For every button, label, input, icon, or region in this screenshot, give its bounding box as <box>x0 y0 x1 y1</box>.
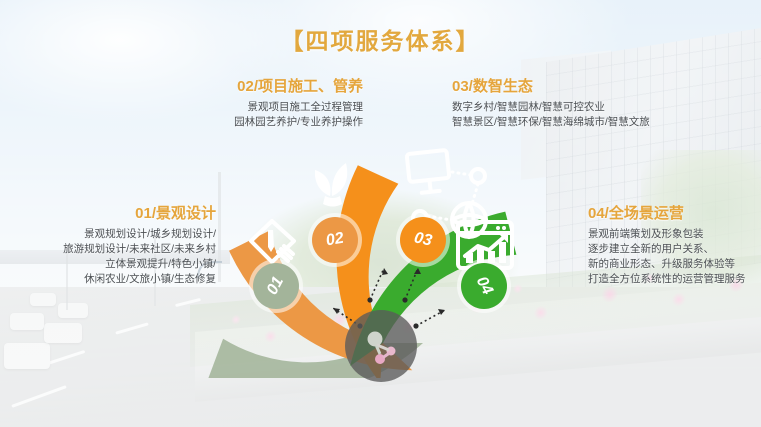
section-heading-04: 04/全场景运营 <box>588 203 761 224</box>
section-heading-01: 01/景观设计 <box>6 203 216 224</box>
sprout-leaf-icon <box>315 163 347 207</box>
segment-badge-04[interactable]: 04 <box>461 263 507 309</box>
section-line: 景观项目施工全过程管理 <box>128 100 363 115</box>
share-network-nodes-icon <box>361 326 401 366</box>
slide-canvas: 【四项服务体系】 .ic{fill:none;stroke:#ffffff;st… <box>0 0 761 427</box>
center-hub[interactable] <box>345 310 417 382</box>
segment-badge-02[interactable]: 02 <box>312 217 358 263</box>
section-line: 旅游规划设计/未来社区/未来乡村 <box>6 242 216 257</box>
section-heading-02: 02/项目施工、管养 <box>128 76 363 97</box>
section-line: 数字乡村/智慧园林/智慧可控农业 <box>452 100 702 115</box>
section-line: 景观前端策划及形象包装 <box>588 227 761 242</box>
section-text-02: 02/项目施工、管养 景观项目施工全过程管理 园林园艺养护/专业养护操作 <box>128 76 363 130</box>
section-line: 逐步建立全新的用户关系、 <box>588 242 761 257</box>
section-text-01: 01/景观设计 景观规划设计/城乡规划设计/ 旅游规划设计/未来社区/未来乡村 … <box>6 203 216 287</box>
section-heading-03: 03/数智生态 <box>452 76 702 97</box>
segment-badge-01[interactable]: 01 <box>253 263 299 309</box>
segment-badge-03[interactable]: 03 <box>400 217 446 263</box>
segment-badge-02-label: 02 <box>325 230 346 251</box>
segment-badge-04-label: 04 <box>472 274 496 298</box>
section-line: 打造全方位系统性的运营管理服务 <box>588 272 761 287</box>
section-line: 园林园艺养护/专业养护操作 <box>128 115 363 130</box>
segment-badge-01-label: 01 <box>264 274 288 298</box>
section-line: 休闲农业/文旅小镇/生态修复 <box>6 272 216 287</box>
section-line: 立体景观提升/特色小镇/ <box>6 257 216 272</box>
segment-badge-03-label: 03 <box>412 229 433 250</box>
page-title: 【四项服务体系】 <box>0 22 761 56</box>
section-text-03: 03/数智生态 数字乡村/智慧园林/智慧可控农业 智慧景区/智慧环保/智慧海绵城… <box>452 76 702 130</box>
section-text-04: 04/全场景运营 景观前端策划及形象包装 逐步建立全新的用户关系、 新的商业形态… <box>588 203 761 287</box>
section-line: 智慧景区/智慧环保/智慧海绵城市/智慧文旅 <box>452 115 702 130</box>
section-line: 新的商业形态、升级服务体验等 <box>588 257 761 272</box>
section-line: 景观规划设计/城乡规划设计/ <box>6 227 216 242</box>
